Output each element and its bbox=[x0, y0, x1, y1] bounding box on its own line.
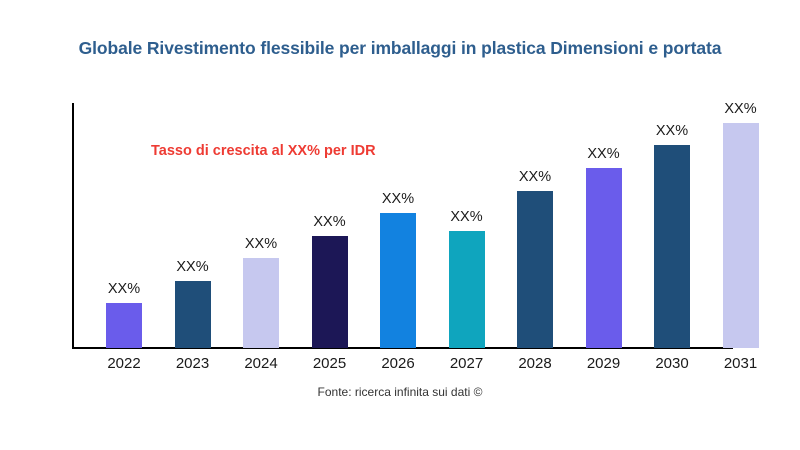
x-tick-2025: 2025 bbox=[313, 355, 346, 372]
x-tick-2031: 2031 bbox=[724, 355, 757, 372]
bar-value-label-2029: XX% bbox=[587, 146, 619, 162]
bar-value-label-2022: XX% bbox=[108, 281, 140, 297]
x-tick-2022: 2022 bbox=[107, 355, 140, 372]
x-tick-2027: 2027 bbox=[450, 355, 483, 372]
source-note: Fonte: ricerca infinita sui dati © bbox=[0, 385, 800, 399]
bar-2023[interactable] bbox=[175, 281, 211, 348]
bar-value-label-2024: XX% bbox=[245, 236, 277, 252]
bar-2028[interactable] bbox=[517, 191, 553, 348]
x-tick-2023: 2023 bbox=[176, 355, 209, 372]
bar-2027[interactable] bbox=[449, 231, 485, 348]
bar-2024[interactable] bbox=[243, 258, 279, 348]
bar-value-label-2031: XX% bbox=[724, 101, 756, 117]
chart-title: Globale Rivestimento flessibile per imba… bbox=[0, 38, 800, 59]
x-tick-2028: 2028 bbox=[518, 355, 551, 372]
bar-value-label-2025: XX% bbox=[313, 214, 345, 230]
x-tick-2024: 2024 bbox=[244, 355, 277, 372]
bar-chart: Globale Rivestimento flessibile per imba… bbox=[0, 0, 800, 450]
bar-2030[interactable] bbox=[654, 145, 690, 348]
bar-value-label-2023: XX% bbox=[176, 259, 208, 275]
x-tick-2029: 2029 bbox=[587, 355, 620, 372]
bar-value-label-2026: XX% bbox=[382, 191, 414, 207]
bar-2026[interactable] bbox=[380, 213, 416, 348]
bar-value-label-2028: XX% bbox=[519, 169, 551, 185]
bar-2031[interactable] bbox=[723, 123, 759, 348]
y-axis-line bbox=[72, 103, 74, 349]
bar-2022[interactable] bbox=[106, 303, 142, 348]
x-tick-2030: 2030 bbox=[655, 355, 688, 372]
bar-value-label-2027: XX% bbox=[450, 209, 482, 225]
x-tick-2026: 2026 bbox=[381, 355, 414, 372]
bar-2029[interactable] bbox=[586, 168, 622, 348]
growth-rate-annotation: Tasso di crescita al XX% per IDR bbox=[151, 143, 376, 159]
bar-2025[interactable] bbox=[312, 236, 348, 348]
bar-value-label-2030: XX% bbox=[656, 123, 688, 139]
